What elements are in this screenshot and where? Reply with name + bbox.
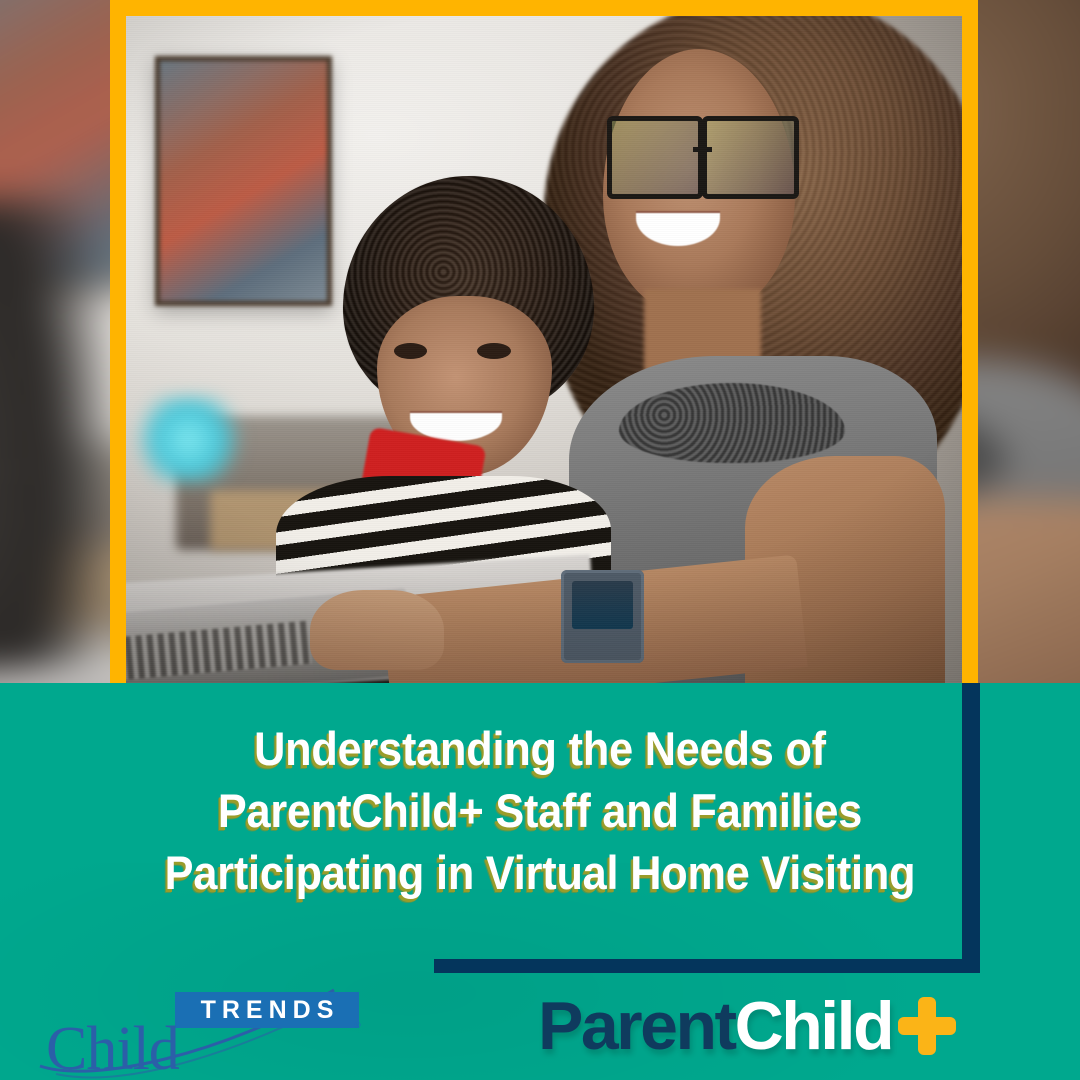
room-scene — [126, 16, 962, 683]
registered-trademark-icon: ® — [354, 1020, 361, 1030]
film-grain — [126, 16, 962, 683]
child-trends-wordmark-trends: TRENDS — [175, 992, 359, 1028]
photo-area — [0, 0, 1080, 683]
navy-horizontal-accent-bar — [434, 959, 980, 973]
framed-photo — [110, 0, 978, 683]
parentchild-wordmark-child: Child — [735, 988, 892, 1064]
plus-icon — [898, 997, 956, 1055]
photo-clip — [126, 16, 962, 683]
parentchild-wordmark-parent: Parent — [538, 988, 735, 1064]
page-title: Understanding the Needs of ParentChild+ … — [43, 718, 1037, 904]
parentchild-plus-logo[interactable]: Parent Child — [538, 988, 956, 1064]
child-trends-wordmark-child: Child — [46, 1018, 179, 1080]
child-trends-logo[interactable]: TRENDS Child ® — [34, 982, 364, 1078]
social-graphic-card: Understanding the Needs of ParentChild+ … — [0, 0, 1080, 1080]
